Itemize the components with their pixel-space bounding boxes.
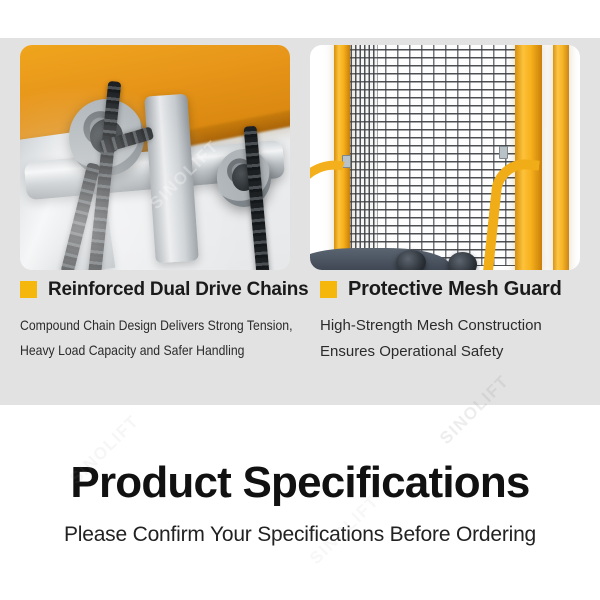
feature-item-mesh-guard: Protective Mesh Guard High-Strength Mesh… [320, 278, 580, 365]
feature-description-line: High-Strength Mesh Construction [320, 313, 580, 339]
yellow-mast-post-outer [553, 45, 569, 270]
wheel-shape [448, 252, 478, 270]
feature-description-line: Heavy Load Capacity and Safer Handling [20, 338, 272, 363]
yellow-square-icon [20, 281, 37, 298]
mesh-clip-icon [499, 146, 508, 159]
feature-photo-drive-chains: SINOLIFT [20, 45, 290, 270]
feature-item-drive-chains: Reinforced Dual Drive Chains Compound Ch… [20, 278, 300, 365]
feature-title: Reinforced Dual Drive Chains [48, 278, 309, 301]
page-title: Product Specifications [0, 460, 600, 506]
feature-captions: Reinforced Dual Drive Chains Compound Ch… [0, 278, 600, 365]
product-feature-page: SINOLIFT SINOLIFT [0, 0, 600, 600]
wheel-shape [396, 250, 426, 270]
feature-description-line: Ensures Operational Safety [320, 339, 580, 365]
feature-title: Protective Mesh Guard [348, 278, 562, 301]
sprocket-icon-small [217, 149, 271, 208]
feature-description: High-Strength Mesh Construction Ensures … [320, 313, 580, 365]
yellow-square-icon [320, 281, 337, 298]
feature-description: Compound Chain Design Delivers Strong Te… [20, 313, 272, 363]
feature-heading: Reinforced Dual Drive Chains [20, 278, 300, 301]
feature-photo-mesh-guard: SINOLIFT [310, 45, 580, 270]
product-specifications-section: Product Specifications Please Confirm Yo… [0, 405, 600, 600]
feature-heading: Protective Mesh Guard [320, 278, 580, 301]
feature-description-line: Compound Chain Design Delivers Strong Te… [20, 313, 272, 338]
feature-band: SINOLIFT SINOLIFT [0, 38, 600, 405]
page-subtitle: Please Confirm Your Specifications Befor… [0, 523, 600, 547]
photo-row: SINOLIFT SINOLIFT [0, 38, 600, 270]
